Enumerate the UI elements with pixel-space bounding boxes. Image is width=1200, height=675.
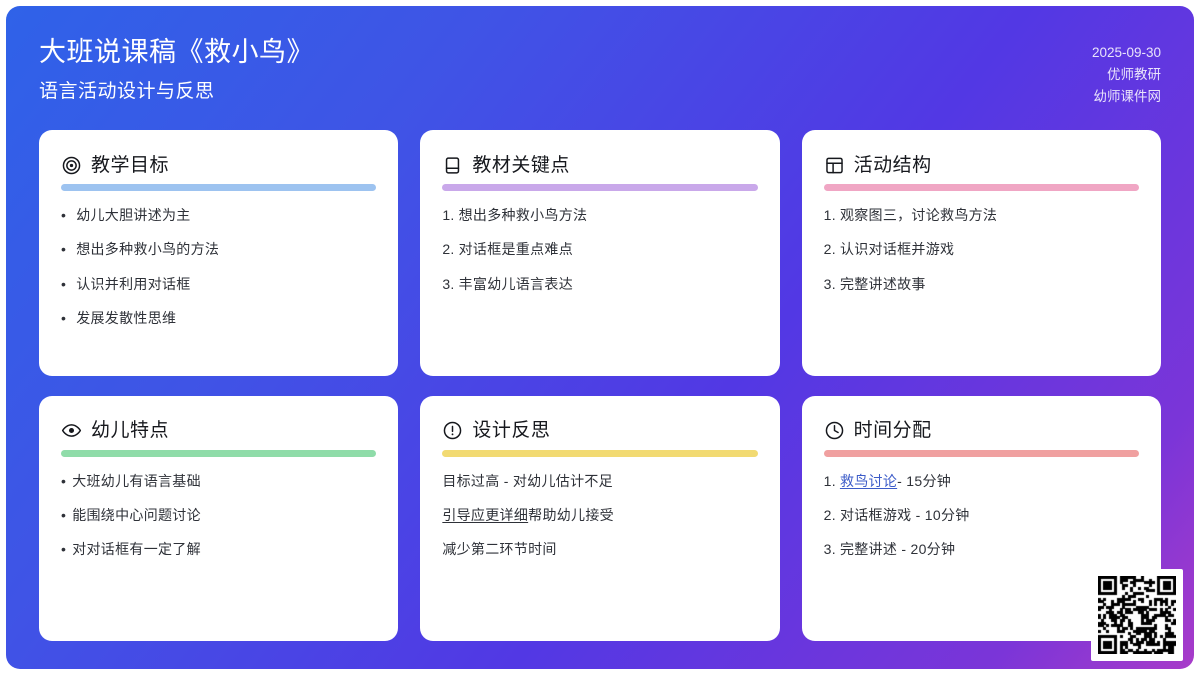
card-title: 教学目标 — [91, 156, 169, 175]
card-title: 教材关键点 — [472, 156, 570, 175]
emphasis-text: 引导应更详细 — [442, 505, 528, 525]
list-item-text: 认识并利用对话框 — [76, 274, 190, 294]
card-accent-rule — [442, 184, 757, 191]
list-item-text: 发展发散性思维 — [76, 308, 176, 328]
card-header: 幼儿特点 — [61, 418, 376, 444]
page-subtitle: 语言活动设计与反思 — [39, 79, 314, 105]
book-icon — [442, 155, 463, 176]
card-body: 1.观察图三，讨论救鸟方法2.认识对话框并游戏3.完整讲述故事 — [824, 205, 1139, 294]
list-item-text: 对话框是重点难点 — [459, 239, 573, 259]
card-header: 设计反思 — [442, 418, 757, 444]
card-header: 时间分配 — [824, 418, 1139, 444]
qr-code-panel[interactable] — [1091, 569, 1183, 661]
list-item: •对对话框有一定了解 — [61, 539, 376, 559]
list-item-text: 目标过高 - 对幼儿估计不足 — [442, 471, 613, 491]
qr-code-icon — [1098, 576, 1176, 654]
list-item-text: 丰富幼儿语言表达 — [459, 274, 573, 294]
card-header: 教材关键点 — [442, 152, 757, 178]
card-accent-rule — [442, 450, 757, 457]
list-item: •认识并利用对话框 — [61, 274, 376, 294]
card-grid: 教学目标•幼儿大胆讲述为主•想出多种救小鸟的方法•认识并利用对话框•发展发散性思… — [39, 130, 1161, 641]
list-item-text: 能围绕中心问题讨论 — [72, 505, 201, 525]
meta-date: 2025-09-30 — [1092, 42, 1161, 64]
list-item: 引导应更详细 帮助幼儿接受 — [442, 505, 757, 525]
page-title: 大班说课稿《救小鸟》 — [39, 35, 314, 70]
target-icon — [61, 155, 82, 176]
card-body: 1.救鸟讨论 - 15分钟2.对话框游戏 - 10分钟3.完整讲述 - 20分钟 — [824, 471, 1139, 560]
card-accent-rule — [61, 184, 376, 191]
card-title: 时间分配 — [854, 421, 932, 440]
list-marker: 1. — [824, 205, 836, 225]
header-meta-group: 2025-09-30 优师教研 幼师课件网 — [1092, 32, 1161, 108]
card-body: •幼儿大胆讲述为主•想出多种救小鸟的方法•认识并利用对话框•发展发散性思维 — [61, 205, 376, 328]
alert-circle-icon — [442, 420, 463, 441]
list-item: •发展发散性思维 — [61, 308, 376, 328]
list-item: 1.想出多种救小鸟方法 — [442, 205, 757, 225]
list-marker: 2. — [824, 239, 836, 259]
list-item: •幼儿大胆讲述为主 — [61, 205, 376, 225]
card-1: 教学目标•幼儿大胆讲述为主•想出多种救小鸟的方法•认识并利用对话框•发展发散性思… — [39, 130, 398, 376]
list-item: •大班幼儿有语言基础 — [61, 471, 376, 491]
list-item: •想出多种救小鸟的方法 — [61, 239, 376, 259]
list-item-text: 认识对话框并游戏 — [840, 239, 954, 259]
card-body: 1.想出多种救小鸟方法2.对话框是重点难点3.丰富幼儿语言表达 — [442, 205, 757, 294]
list-marker: • — [61, 471, 66, 491]
inline-link[interactable]: 救鸟讨论 — [840, 471, 897, 491]
card-title: 幼儿特点 — [91, 421, 169, 440]
list-marker: • — [61, 205, 66, 225]
list-item: 2.对话框游戏 - 10分钟 — [824, 505, 1139, 525]
list-item-text: 对话框游戏 - 10分钟 — [840, 505, 970, 525]
list-item: 3.丰富幼儿语言表达 — [442, 274, 757, 294]
list-item-text: 对对话框有一定了解 — [72, 539, 201, 559]
layout-icon — [824, 155, 845, 176]
list-item-text: 想出多种救小鸟方法 — [459, 205, 588, 225]
list-item-text: 观察图三，讨论救鸟方法 — [840, 205, 997, 225]
list-item-text: 减少第二环节时间 — [442, 539, 556, 559]
card-2: 教材关键点1.想出多种救小鸟方法2.对话框是重点难点3.丰富幼儿语言表达 — [420, 130, 779, 376]
list-marker: 3. — [824, 539, 836, 559]
card-5: 设计反思目标过高 - 对幼儿估计不足引导应更详细 帮助幼儿接受减少第二环节时间 — [420, 396, 779, 642]
list-item-text: 幼儿大胆讲述为主 — [76, 205, 190, 225]
list-item-text: 帮助幼儿接受 — [528, 505, 614, 525]
list-item: •能围绕中心问题讨论 — [61, 505, 376, 525]
list-item-text: 完整讲述 - 20分钟 — [840, 539, 955, 559]
list-marker: 3. — [824, 274, 836, 294]
slide-stage: 大班说课稿《救小鸟》 语言活动设计与反思 2025-09-30 优师教研 幼师课… — [6, 6, 1194, 669]
list-item: 3.完整讲述 - 20分钟 — [824, 539, 1139, 559]
list-item: 3.完整讲述故事 — [824, 274, 1139, 294]
card-header: 教学目标 — [61, 152, 376, 178]
list-marker: 1. — [824, 471, 836, 491]
card-accent-rule — [61, 450, 376, 457]
list-marker: 2. — [824, 505, 836, 525]
slide-header: 大班说课稿《救小鸟》 语言活动设计与反思 2025-09-30 优师教研 幼师课… — [39, 32, 1161, 124]
card-title: 设计反思 — [472, 421, 550, 440]
header-title-group: 大班说课稿《救小鸟》 语言活动设计与反思 — [39, 32, 314, 105]
list-marker: • — [61, 308, 66, 328]
list-marker: 2. — [442, 239, 454, 259]
list-item: 减少第二环节时间 — [442, 539, 757, 559]
list-item-text: 想出多种救小鸟的方法 — [76, 239, 219, 259]
card-header: 活动结构 — [824, 152, 1139, 178]
slide-root: 大班说课稿《救小鸟》 语言活动设计与反思 2025-09-30 优师教研 幼师课… — [0, 0, 1200, 675]
list-marker: 1. — [442, 205, 454, 225]
card-accent-rule — [824, 450, 1139, 457]
card-body: •大班幼儿有语言基础•能围绕中心问题讨论•对对话框有一定了解 — [61, 471, 376, 560]
card-4: 幼儿特点•大班幼儿有语言基础•能围绕中心问题讨论•对对话框有一定了解 — [39, 396, 398, 642]
list-marker: • — [61, 239, 66, 259]
list-item: 2.对话框是重点难点 — [442, 239, 757, 259]
clock-icon — [824, 420, 845, 441]
list-item-text: - 15分钟 — [897, 471, 951, 491]
meta-org: 优师教研 — [1092, 64, 1161, 86]
list-marker: • — [61, 539, 66, 559]
eye-icon — [61, 420, 82, 441]
card-body: 目标过高 - 对幼儿估计不足引导应更详细 帮助幼儿接受减少第二环节时间 — [442, 471, 757, 560]
card-accent-rule — [824, 184, 1139, 191]
list-marker: 3. — [442, 274, 454, 294]
list-item: 1.救鸟讨论 - 15分钟 — [824, 471, 1139, 491]
list-item: 2.认识对话框并游戏 — [824, 239, 1139, 259]
list-item: 目标过高 - 对幼儿估计不足 — [442, 471, 757, 491]
list-item-text: 大班幼儿有语言基础 — [72, 471, 201, 491]
meta-site: 幼师课件网 — [1092, 86, 1161, 108]
list-item: 1.观察图三，讨论救鸟方法 — [824, 205, 1139, 225]
card-title: 活动结构 — [854, 156, 932, 175]
list-marker: • — [61, 505, 66, 525]
card-3: 活动结构1.观察图三，讨论救鸟方法2.认识对话框并游戏3.完整讲述故事 — [802, 130, 1161, 376]
list-item-text: 完整讲述故事 — [840, 274, 926, 294]
list-marker: • — [61, 274, 66, 294]
